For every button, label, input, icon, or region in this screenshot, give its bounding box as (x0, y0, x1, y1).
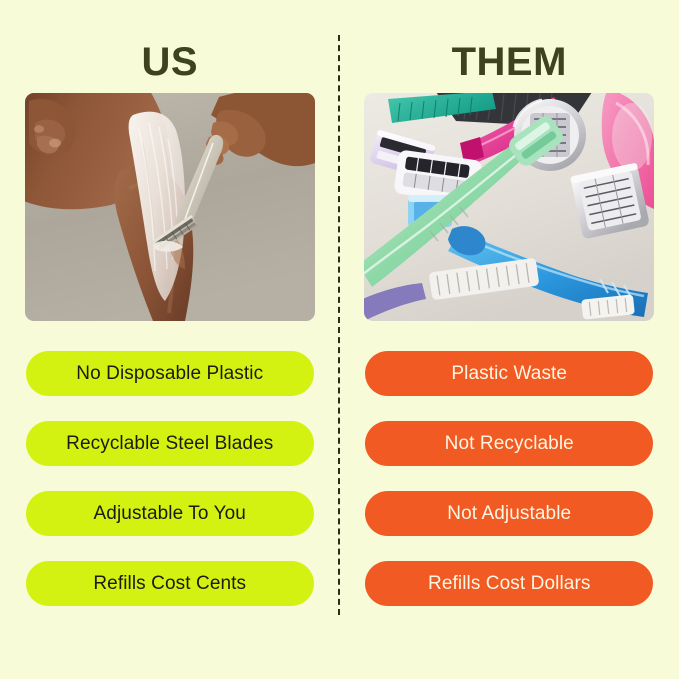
pill-them-2: Not Recyclable (365, 421, 653, 466)
pill-stack-them: Plastic Waste Not Recyclable Not Adjusta… (365, 351, 653, 606)
pill-them-3: Not Adjustable (365, 491, 653, 536)
column-us: US (0, 0, 340, 679)
pill-us-1: No Disposable Plastic (26, 351, 314, 396)
photo-them-illustration (364, 93, 654, 321)
photo-them-plastic-razors (364, 93, 654, 321)
pill-us-4: Refills Cost Cents (26, 561, 314, 606)
photo-us-illustration (25, 93, 315, 321)
column-divider (338, 35, 340, 615)
heading-us: US (141, 38, 198, 86)
comparison-board: US (0, 0, 679, 679)
pill-stack-us: No Disposable Plastic Recyclable Steel B… (26, 351, 314, 606)
column-them: THEM (340, 0, 679, 679)
pill-us-2: Recyclable Steel Blades (26, 421, 314, 466)
pill-us-3: Adjustable To You (26, 491, 314, 536)
heading-them: THEM (452, 38, 567, 86)
photo-us-leg-shaving (25, 93, 315, 321)
pill-them-4: Refills Cost Dollars (365, 561, 653, 606)
pill-them-1: Plastic Waste (365, 351, 653, 396)
